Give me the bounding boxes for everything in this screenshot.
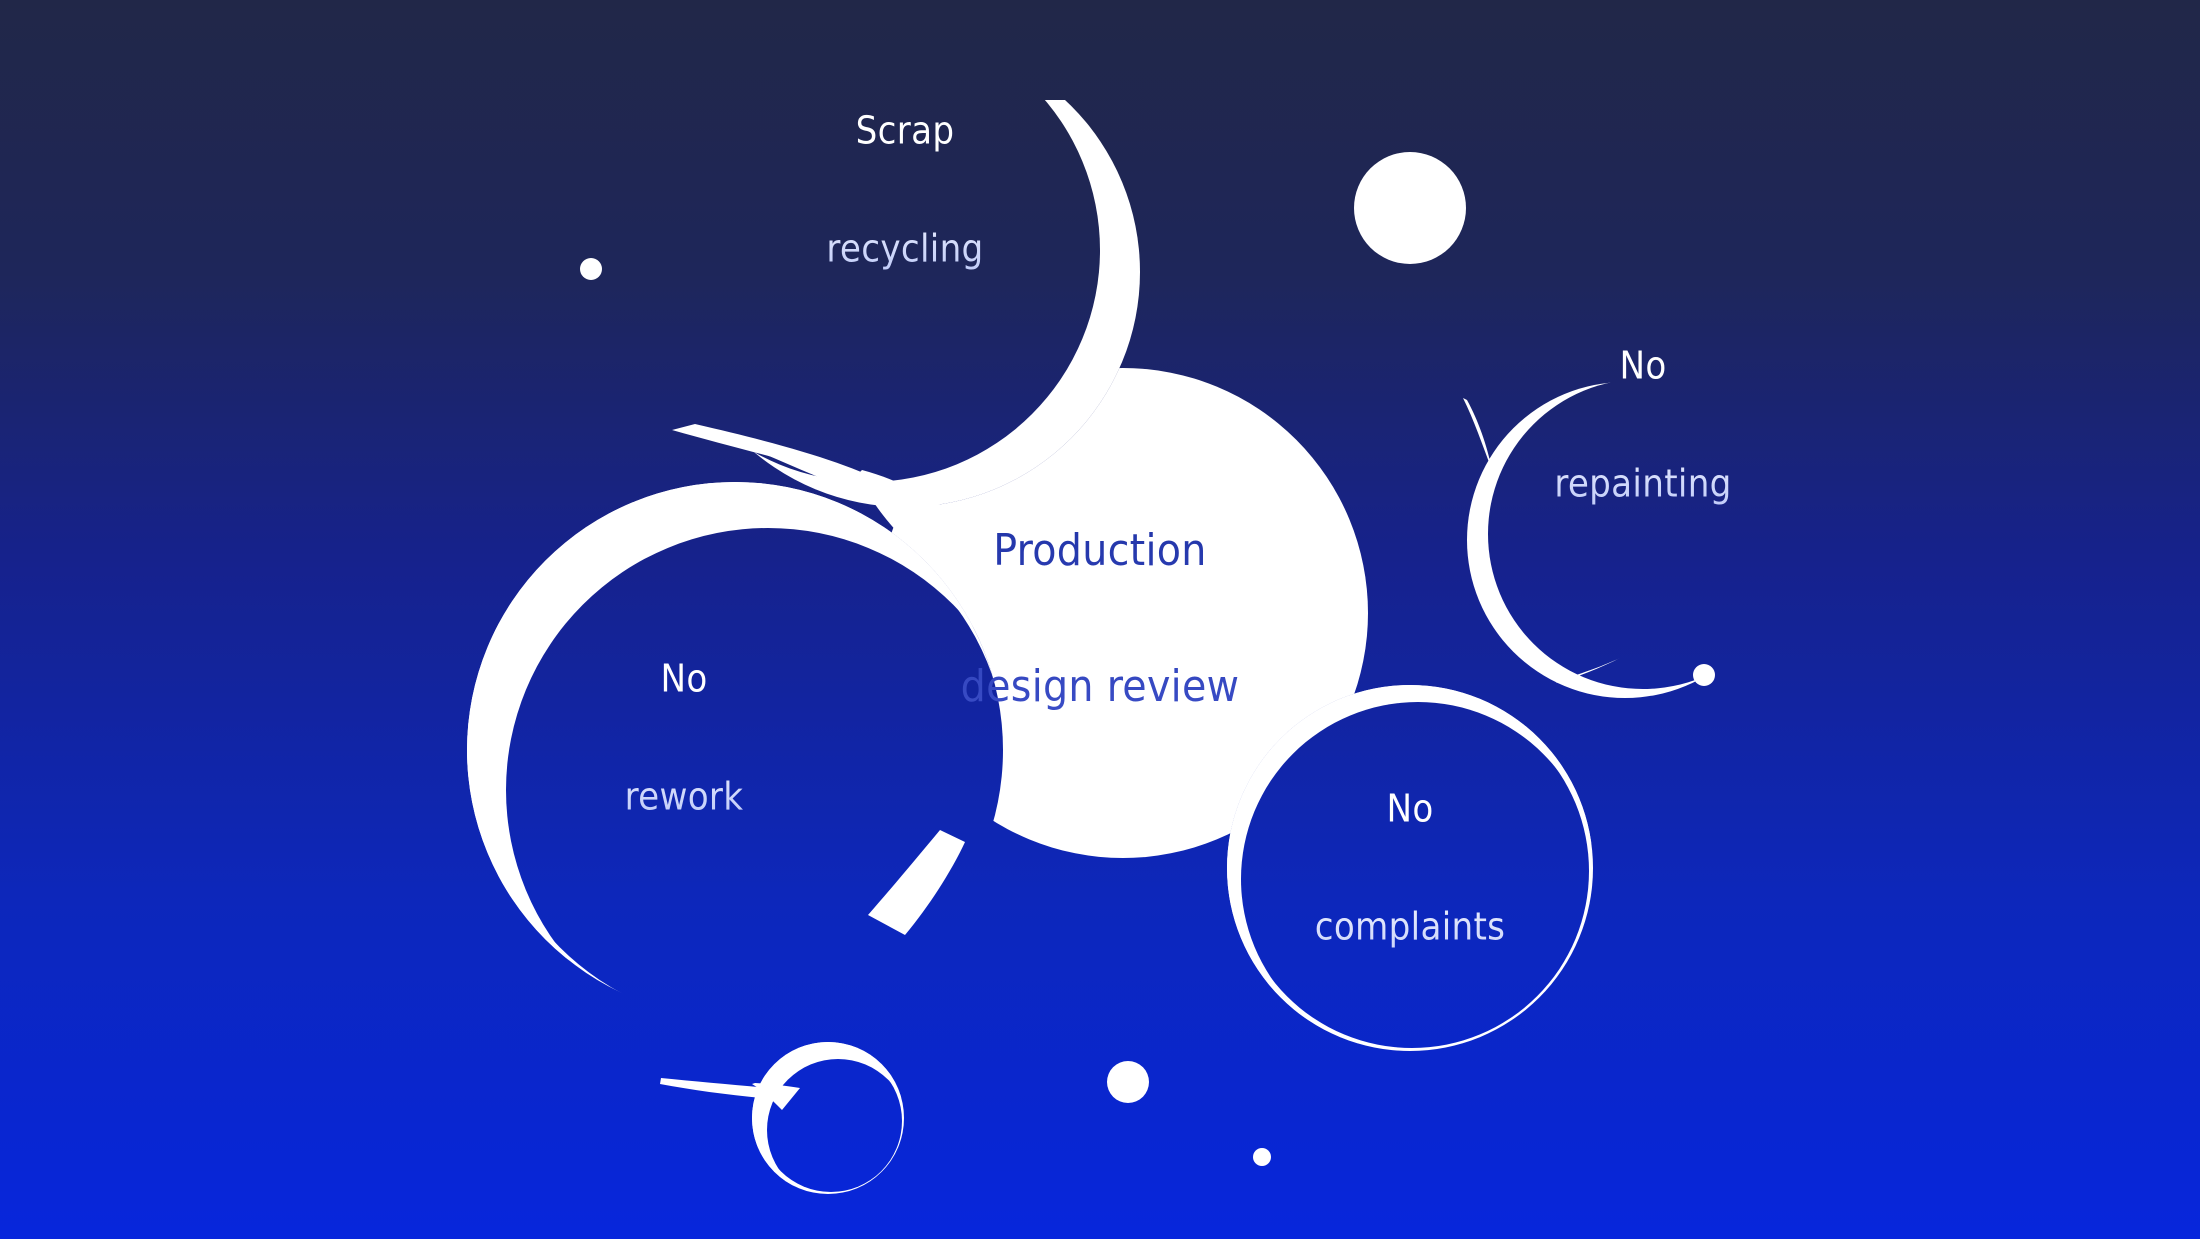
dot-tiny-bottom — [1253, 1148, 1271, 1166]
small-bottom-circle — [0, 0, 2200, 1239]
dot-small-top-left — [580, 258, 602, 280]
dot-medium-bottom — [1107, 1061, 1149, 1103]
dot-small-right — [1693, 664, 1715, 686]
diagram-canvas: Production design review Scrap recycling… — [0, 0, 2200, 1239]
diagram-shapes — [0, 0, 2200, 1239]
dot-large-top-right — [1354, 152, 1466, 264]
